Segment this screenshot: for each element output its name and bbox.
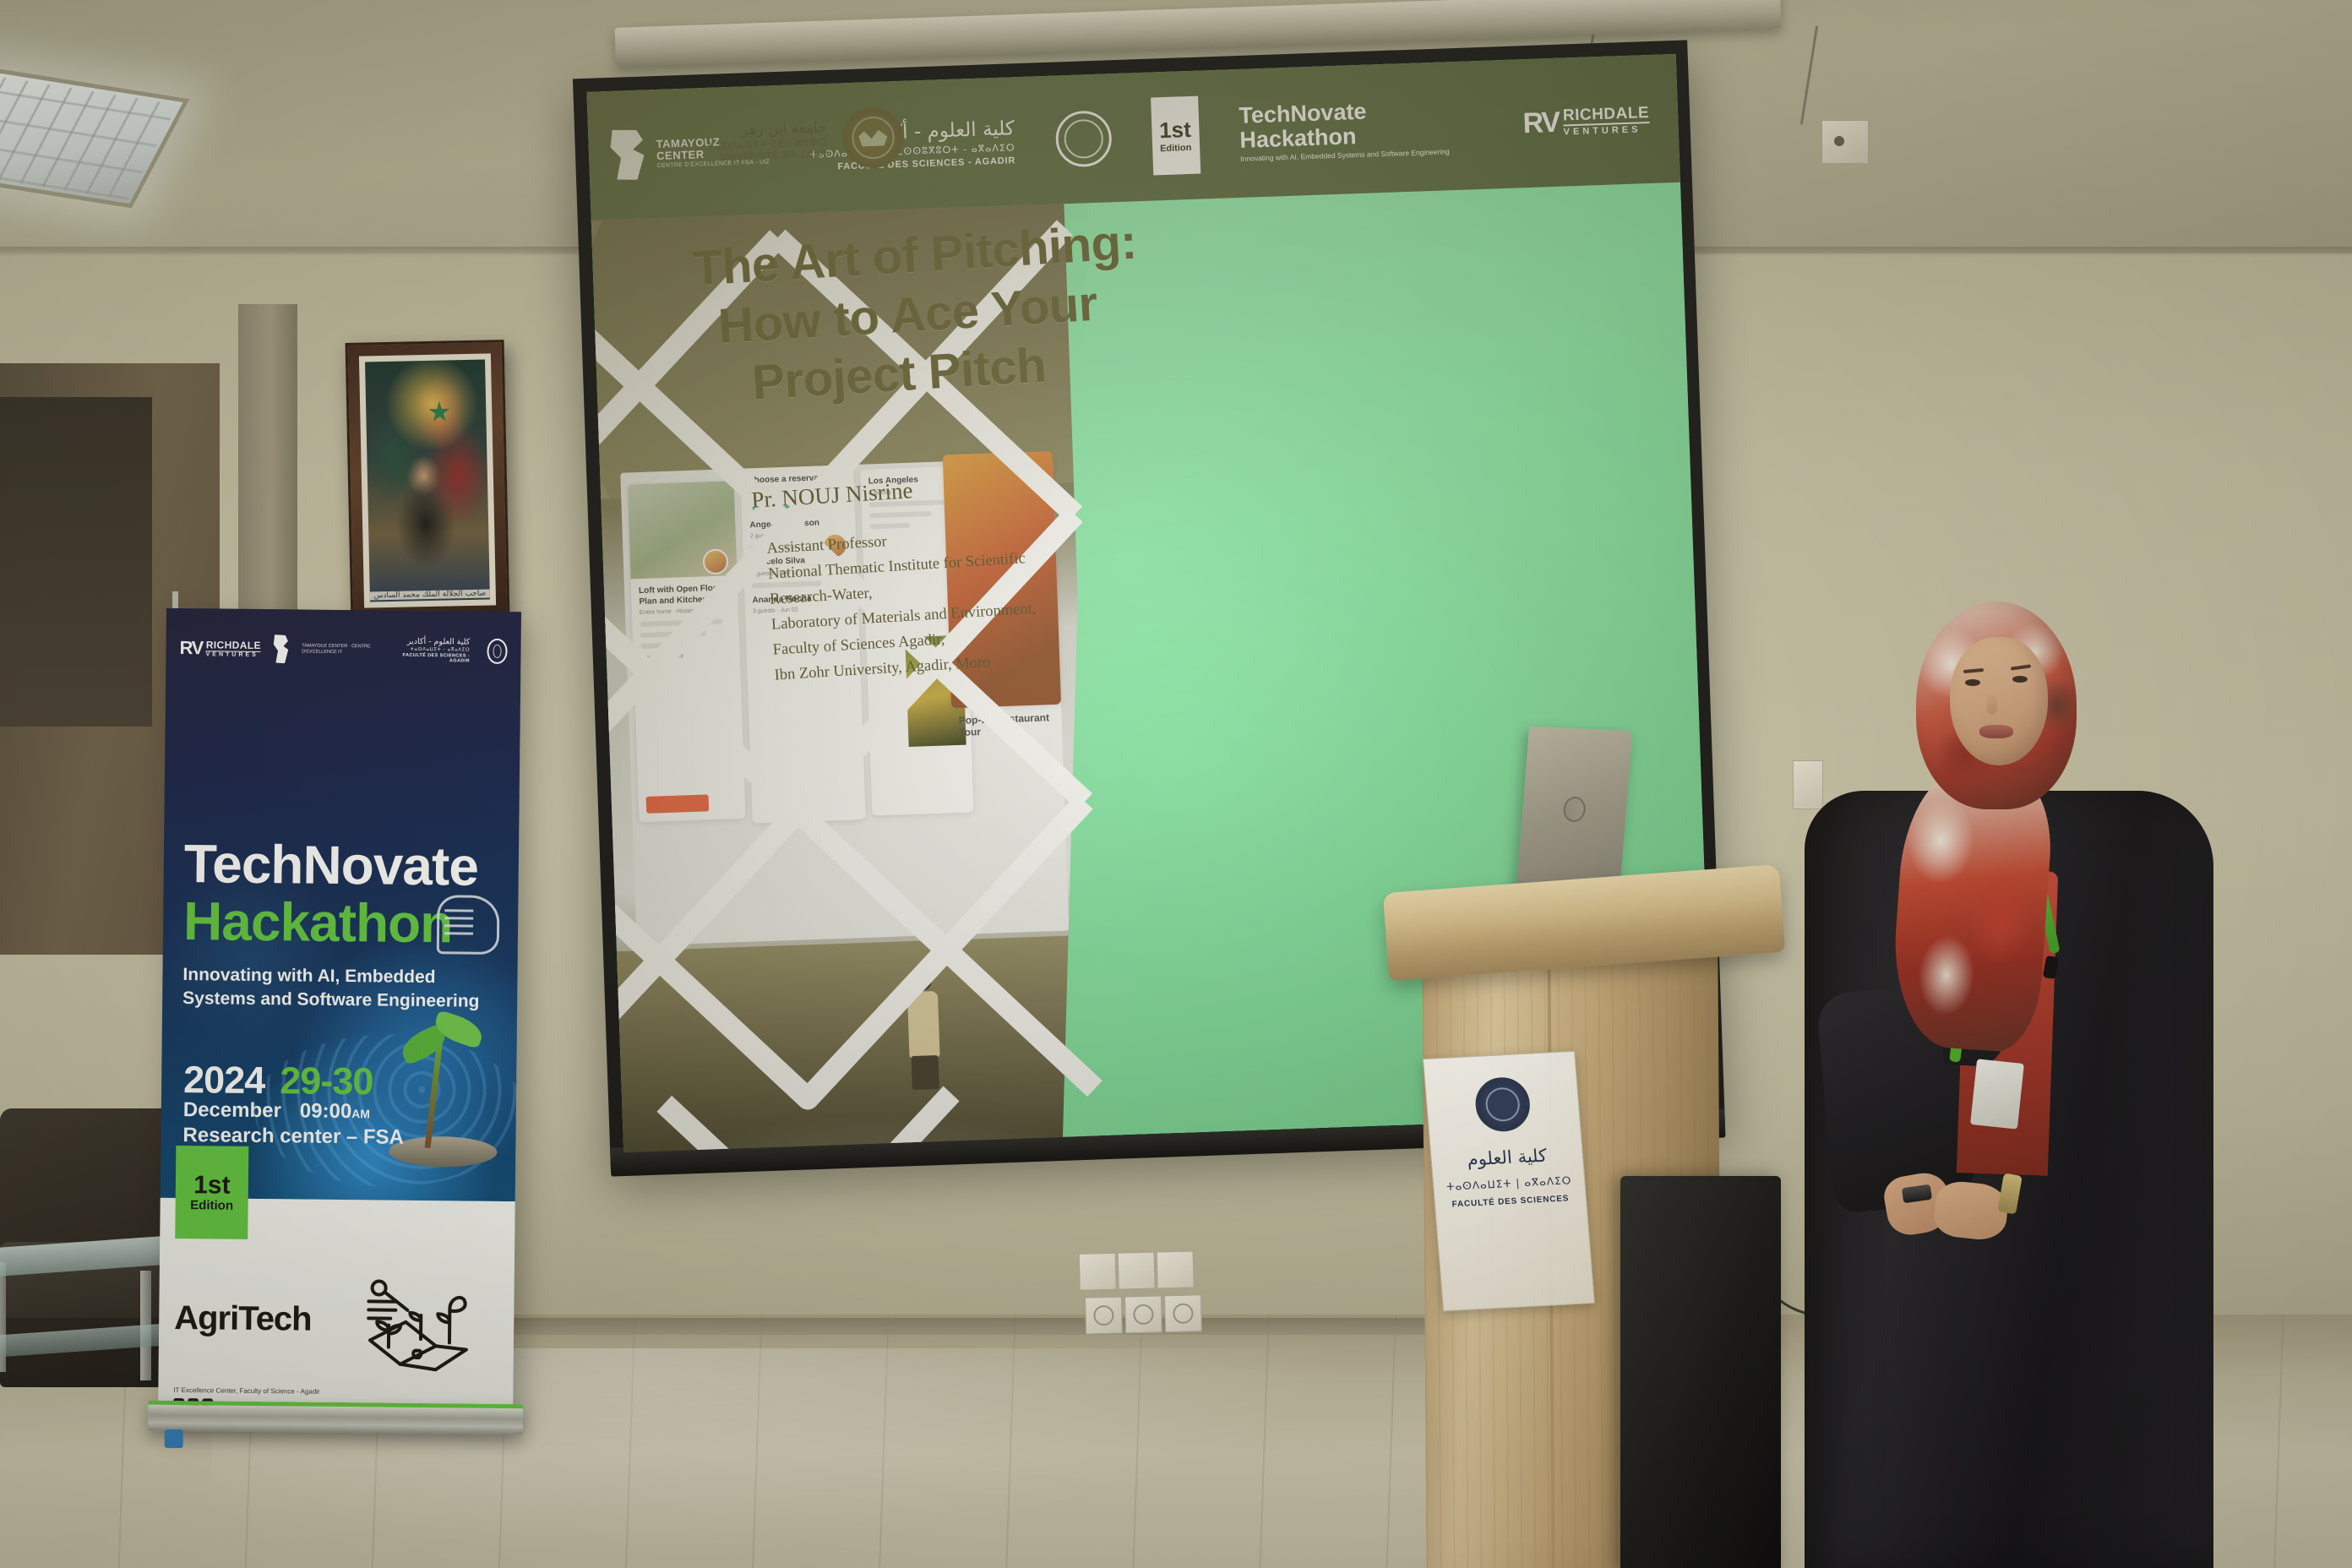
presentation-photo-scene: صاحب الجلالة الملك محمد السادس — [0, 0, 2352, 1568]
moroccan-star-icon — [428, 401, 451, 424]
edition-word: Edition — [190, 1199, 233, 1212]
hp-logo-icon — [1562, 796, 1586, 822]
cable-outlet-plate — [1821, 120, 1869, 164]
nose — [1987, 691, 1997, 715]
eye — [2012, 676, 2028, 683]
presenter-affiliation: Assistant Professor National Thematic In… — [766, 521, 1040, 689]
event-month: December — [183, 1098, 281, 1122]
tamayouz-text: TAMAYOUZ CENTER · CENTRE D'EXCELLENCE IT — [302, 644, 388, 656]
agritech-icon — [358, 1274, 474, 1373]
tamayouz-mark-icon — [273, 634, 291, 663]
wall-outlet-group — [1077, 1250, 1205, 1348]
portrait-mat: صاحب الجلالة الملك محمد السادس — [359, 353, 496, 607]
light-switch[interactable] — [1118, 1252, 1156, 1290]
portrait-image: صاحب الجلالة الملك محمد السادس — [365, 360, 490, 602]
tamayouz-mark-icon — [608, 128, 649, 181]
slide-title: The Art of Pitching: How to Ace Your Pro… — [691, 204, 1292, 416]
placeholder-line — [640, 619, 722, 627]
rollup-banner: RV RICHDALE VENTURES TAMAYOUZ CENTER · C… — [158, 608, 521, 1423]
richdale-text: RICHDALE VENTURES — [206, 639, 261, 658]
event-year: 2024 — [183, 1058, 265, 1102]
university-seal-icon — [841, 106, 904, 169]
app-card-section: About this home — [641, 651, 732, 661]
university-branding: جامعة ابن زهر ⵜⴰⵙⴷⴰⵡⵉⵜ ⵉⴱⵏ ⵣⵓⵀⵔ UNIVERSI… — [705, 106, 904, 174]
banner-footer-org: IT Excellence Center, Faculty of Science… — [173, 1386, 319, 1396]
banner-faculty-text: كلية العلوم - أكادير ⵜⴰⵙⴷⴰⵡⵉⵜ - ⴰⴳⴰⴷⵉⵔ F… — [400, 636, 470, 664]
plaque-arabic: كلية العلوم — [1441, 1143, 1573, 1173]
placeholder-line — [640, 642, 683, 649]
light-switch-row — [1079, 1250, 1195, 1290]
app-card-meta: Entire home · Hosted by Sara — [640, 607, 731, 616]
banner-title-line2: Hackathon — [183, 894, 453, 950]
collage-stage-photo — [617, 935, 1097, 1152]
banner-logo-row: RV RICHDALE VENTURES TAMAYOUZ CENTER · C… — [166, 618, 521, 681]
speaker-face — [1950, 637, 2048, 765]
richdale-ventures-logo: RV RICHDALE VENTURES — [1522, 102, 1650, 139]
richdale-name: RICHDALE — [1563, 104, 1650, 126]
banner-base-stand — [148, 1401, 523, 1435]
university-text-block: جامعة ابن زهر ⵜⴰⵙⴷⴰⵡⵉⵜ ⵉⴱⵏ ⵣⵓⵀⵔ UNIVERSI… — [706, 118, 828, 165]
banner-theme-label: AgriTech — [174, 1299, 312, 1339]
brain-head-icon — [437, 895, 500, 955]
faculty-seal-icon — [487, 639, 508, 664]
app-card-listing: Loft with Open Floor Plan and Kitchen En… — [628, 481, 746, 822]
banner-edition-badge: 1st Edition — [175, 1146, 248, 1239]
richdale-word: VENTURES — [206, 651, 261, 658]
plaque-tifinagh: ⵜⴰⵙⴷⴰⵡⵉⵜ | ⴰⴳⴰⴷⵉⵔ — [1444, 1174, 1575, 1193]
picker-row-name: Angela Anderson — [749, 517, 847, 531]
edition-badge: 1st Edition — [1151, 96, 1200, 176]
richdale-mark: RV — [179, 637, 202, 659]
light-switch[interactable] — [1079, 1253, 1117, 1291]
power-socket-row — [1085, 1294, 1202, 1334]
experience-title: Pop-up Restaurant Tour — [958, 711, 1062, 738]
app-book-button — [646, 794, 710, 814]
left-wall-inset — [0, 397, 152, 727]
portrait-caption: صاحب الجلالة الملك محمد السادس — [370, 589, 490, 600]
lectern-top-surface — [1383, 864, 1785, 981]
stage-presenter-figure — [896, 972, 950, 1091]
faculty-name-french: FACULTÉ DES SCIENCES - AGADIR — [400, 652, 470, 665]
richdale-mark: RV — [1522, 106, 1560, 139]
name-badge — [1970, 1059, 2024, 1129]
hackathon-title-block: TechNovate Hackathon Innovating with AI,… — [1239, 96, 1450, 163]
banner-event-details: 202429-30 December09:00AM Research cente… — [182, 1058, 405, 1150]
event-time: 09:00 — [300, 1100, 352, 1124]
richdale-text: RICHDALE VENTURES — [1563, 104, 1650, 137]
placeholder-line — [640, 630, 706, 638]
banner-richdale-logo: RV RICHDALE VENTURES — [179, 637, 261, 660]
power-socket[interactable] — [1085, 1297, 1123, 1335]
edition-number: 1st — [193, 1173, 231, 1200]
placeholder-line — [869, 510, 933, 518]
power-socket[interactable] — [1164, 1294, 1202, 1332]
banner-title-line1: TechNovate — [184, 836, 479, 894]
mouth — [1979, 725, 2013, 738]
lectern-plaque: كلية العلوم ⵜⴰⵙⴷⴰⵡⵉⵜ | ⴰⴳⴰⴷⵉⵔ FACULTÉ DE… — [1423, 1051, 1595, 1311]
banner-tagline: Innovating with AI, Embedded Systems and… — [182, 963, 498, 1014]
richdale-word: VENTURES — [1563, 124, 1649, 137]
placeholder-line — [869, 522, 910, 529]
event-time-ampm: AM — [351, 1107, 370, 1120]
edition-word: Edition — [1160, 143, 1192, 153]
banner-foot — [165, 1429, 183, 1448]
faculty-seal-icon — [1054, 110, 1112, 167]
edition-number: 1st — [1159, 117, 1191, 140]
banner-upper-panel: RV RICHDALE VENTURES TAMAYOUZ CENTER · C… — [161, 608, 521, 1201]
plaque-french: FACULTÉ DES SCIENCES — [1445, 1194, 1576, 1210]
faculty-name-arabic: كلية العلوم - أكادير — [400, 636, 471, 647]
monitor-rear — [1620, 1176, 1781, 1568]
eye — [1965, 679, 1980, 686]
speaker-person — [1774, 591, 2247, 1568]
richdale-name: RICHDALE — [206, 639, 261, 652]
faculty-seal-icon — [1473, 1076, 1532, 1133]
app-card-title: Loft with Open Floor Plan and Kitchen — [639, 583, 731, 607]
light-switch[interactable] — [1157, 1250, 1195, 1288]
power-socket[interactable] — [1124, 1295, 1162, 1333]
event-days: 29-30 — [280, 1059, 373, 1103]
framed-royal-portrait: صاحب الجلالة الملك محمد السادس — [346, 340, 510, 622]
